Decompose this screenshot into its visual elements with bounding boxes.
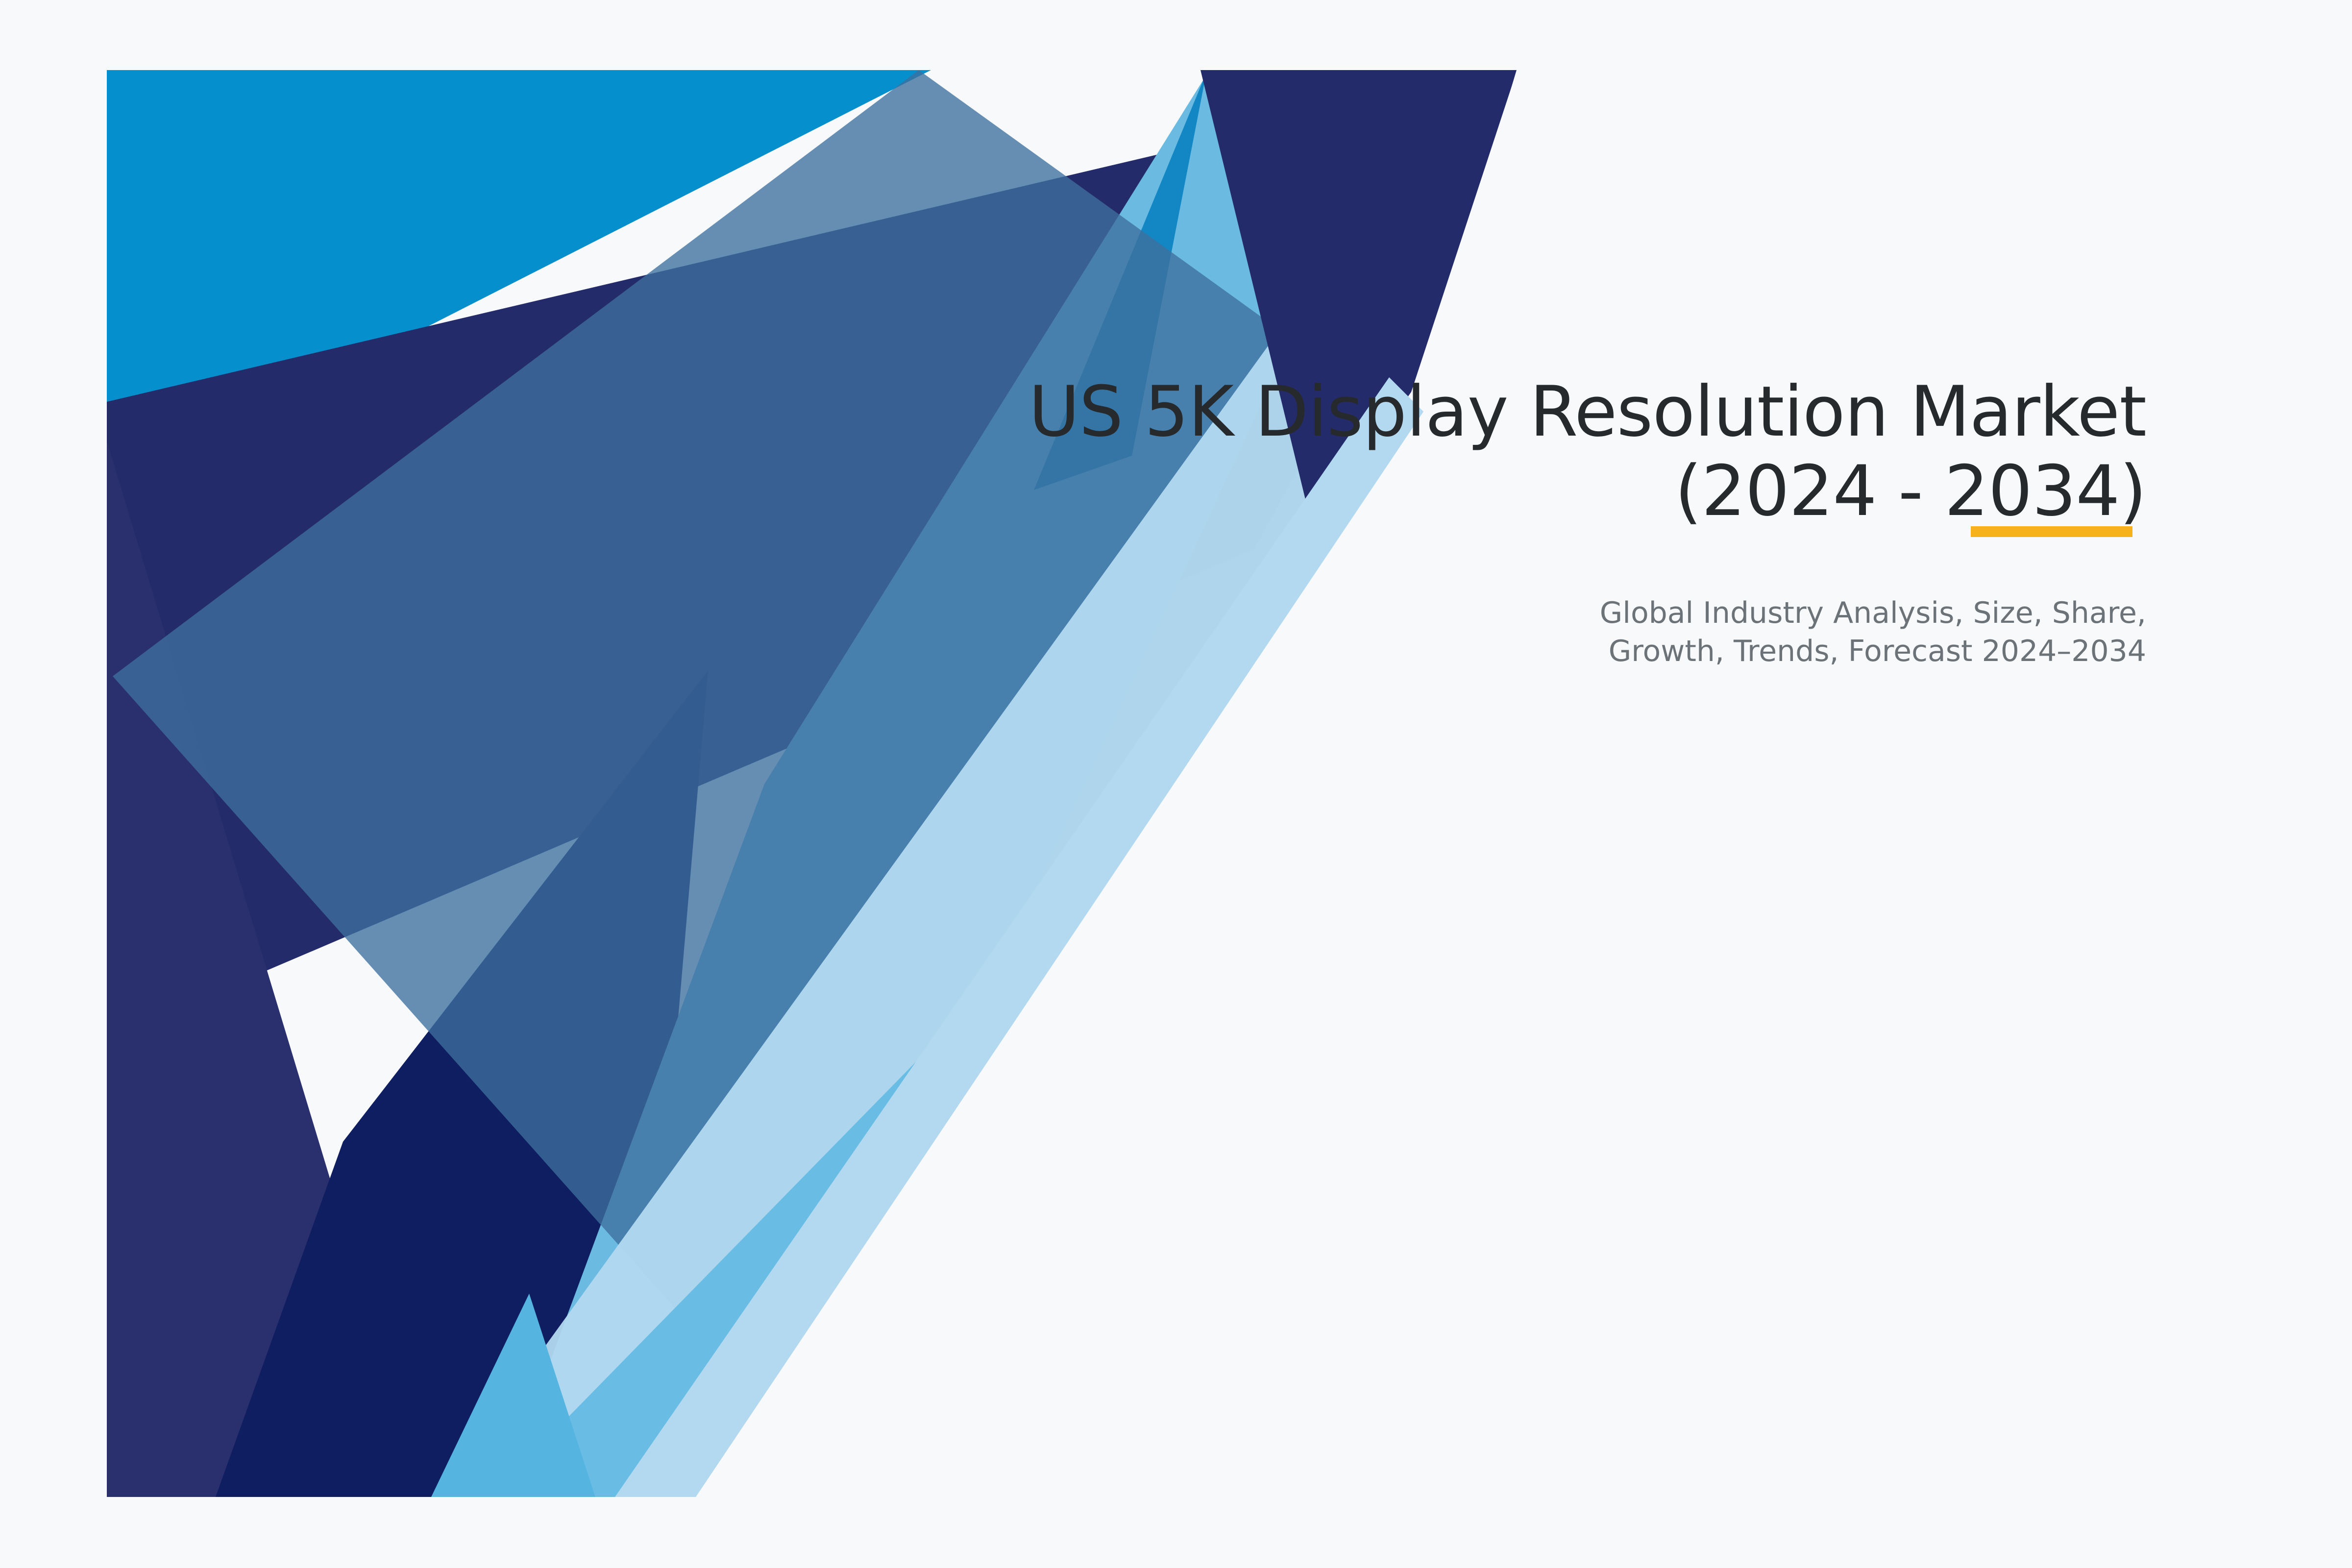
cover-text-block: US 5K Display Resolution Market (2024 - … [1004,372,2146,670]
page-title: US 5K Display Resolution Market (2024 - … [1004,372,2146,531]
report-cover: US 5K Display Resolution Market (2024 - … [0,0,2352,1568]
abstract-geometric-polygons [0,0,2352,1568]
page-subtitle: Global Industry Analysis, Size, Share, G… [1004,531,2146,670]
